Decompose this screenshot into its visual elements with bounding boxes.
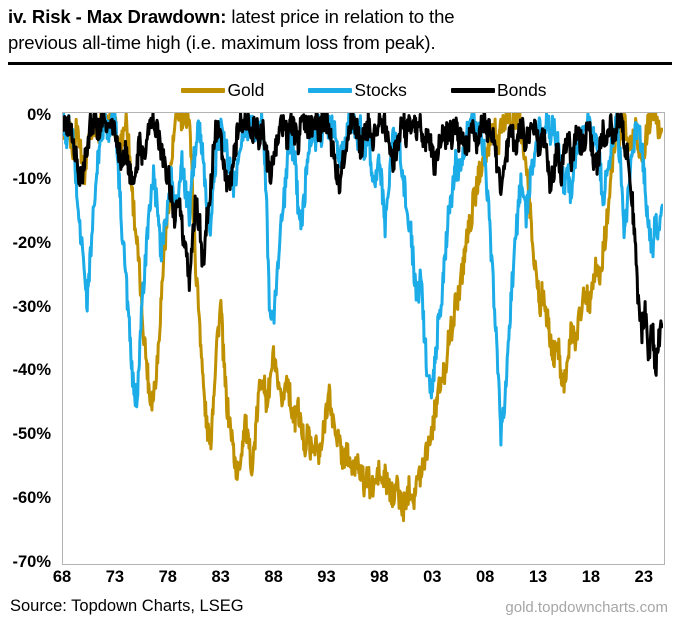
- y-axis-labels: 0%-10%-20%-30%-40%-50%-60%-70%: [0, 112, 56, 565]
- title-line-1: iv. Risk - Max Drawdown: latest price in…: [8, 4, 672, 30]
- x-tick-10: 18: [582, 568, 600, 586]
- legend-swatch-gold: [181, 88, 225, 93]
- x-tick-7: 03: [423, 568, 441, 586]
- y-tick-6: -60%: [12, 490, 51, 506]
- x-tick-9: 13: [529, 568, 547, 586]
- title-divider: [8, 62, 672, 65]
- legend-label-stocks: Stocks: [354, 81, 407, 99]
- plot-area: [62, 112, 665, 565]
- drawdown-lines: [63, 113, 663, 563]
- legend-item-gold[interactable]: Gold: [181, 81, 264, 99]
- x-axis-labels: 687378838893980308131823: [62, 566, 665, 592]
- page-title: iv. Risk - Max Drawdown: latest price in…: [8, 4, 672, 56]
- x-tick-1: 73: [106, 568, 124, 586]
- legend-label-gold: Gold: [227, 81, 264, 99]
- x-tick-0: 68: [53, 568, 71, 586]
- y-tick-7: -70%: [12, 554, 51, 570]
- y-tick-2: -20%: [12, 235, 51, 251]
- y-tick-3: -30%: [12, 299, 51, 315]
- legend-item-bonds[interactable]: Bonds: [451, 81, 547, 99]
- title-label-rest: latest price in relation to the: [226, 6, 454, 27]
- legend-item-stocks[interactable]: Stocks: [308, 81, 407, 99]
- website-note: gold.topdowncharts.com: [505, 598, 668, 618]
- x-tick-8: 08: [476, 568, 494, 586]
- x-tick-5: 93: [317, 568, 335, 586]
- title-line-2: previous all-time high (i.e. maximum los…: [8, 30, 672, 56]
- legend-swatch-bonds: [451, 88, 495, 93]
- x-tick-3: 83: [211, 568, 229, 586]
- chart-legend: Gold Stocks Bonds: [62, 78, 666, 102]
- y-tick-1: -10%: [12, 171, 51, 187]
- legend-label-bonds: Bonds: [497, 81, 547, 99]
- x-tick-4: 88: [264, 568, 282, 586]
- x-tick-11: 23: [635, 568, 653, 586]
- y-tick-4: -40%: [12, 362, 51, 378]
- source-note: Source: Topdown Charts, LSEG: [10, 596, 244, 616]
- y-tick-5: -50%: [12, 426, 51, 442]
- legend-swatch-stocks: [308, 88, 352, 93]
- title-label-bold: iv. Risk - Max Drawdown:: [8, 6, 226, 27]
- x-tick-6: 98: [370, 568, 388, 586]
- y-tick-0: 0%: [27, 107, 51, 123]
- chart-page: iv. Risk - Max Drawdown: latest price in…: [0, 0, 680, 632]
- x-tick-2: 78: [159, 568, 177, 586]
